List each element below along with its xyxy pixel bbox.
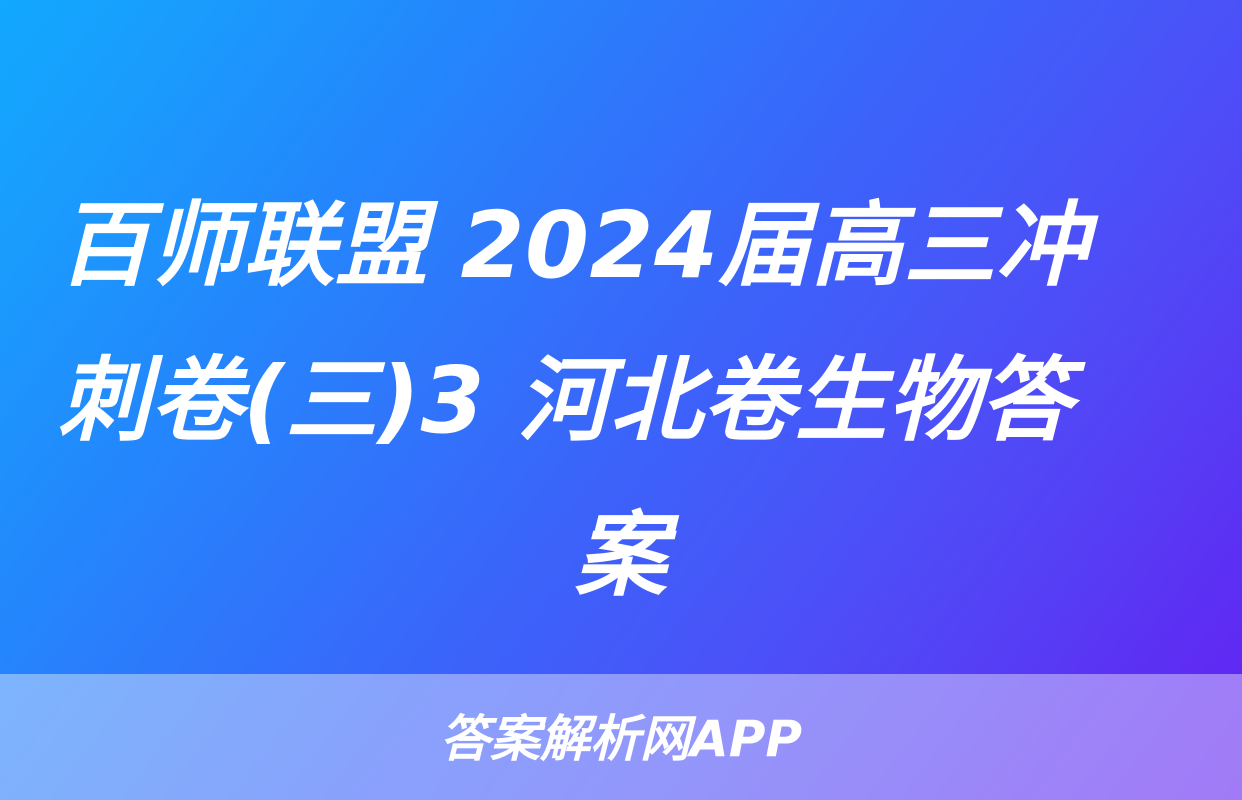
poster-canvas: 百师联盟 2024届高三冲 刺卷(三)3 河北卷生物答 案 答案解析网APP bbox=[0, 0, 1242, 800]
title-line-1: 百师联盟 2024届高三冲 bbox=[58, 168, 1184, 323]
poster-title: 百师联盟 2024届高三冲 刺卷(三)3 河北卷生物答 案 bbox=[0, 168, 1242, 633]
title-line-3: 案 bbox=[58, 478, 1184, 633]
watermark-text: 答案解析网APP bbox=[440, 714, 802, 764]
watermark-band: 答案解析网APP bbox=[0, 674, 1242, 800]
title-line-2: 刺卷(三)3 河北卷生物答 bbox=[58, 323, 1184, 478]
